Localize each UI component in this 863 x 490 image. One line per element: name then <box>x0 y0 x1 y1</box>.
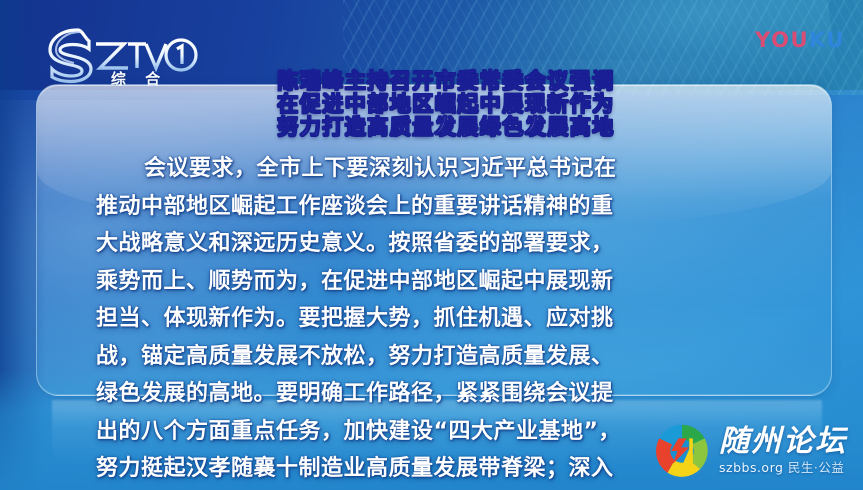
news-body-line: 会议要求，全市上下要深刻认识习近平总书记在 <box>96 150 782 188</box>
forum-name: 随州论坛 <box>719 427 847 457</box>
news-body-line: 战，锚定高质量发展不放松，努力打造高质量发展、 <box>96 338 782 376</box>
headline-line-2: 在促进中部地区崛起中展现新作为 <box>176 93 716 116</box>
forum-url: szbbs.org <box>719 460 783 475</box>
news-headline: 陈瑞峰主持召开市委常委会议强调 在促进中部地区崛起中展现新作为 努力打造高质量发… <box>176 70 716 139</box>
news-body-line: 推动中部地区崛起工作座谈会上的重要讲话精神的重 <box>96 188 782 226</box>
channel-logo: 综 合 <box>38 24 198 86</box>
youku-watermark: YOUKU <box>755 28 845 52</box>
forum-tagline: 民生·公益 <box>788 460 844 475</box>
forum-watermark-text: 随州论坛 szbbs.org 民生·公益 <box>719 427 847 475</box>
youku-watermark-part1: YOU <box>755 28 809 52</box>
forum-watermark: 随州论坛 szbbs.org 民生·公益 <box>653 422 847 480</box>
news-body-line: 大战略意义和深远历史意义。按照省委的部署要求， <box>96 225 782 263</box>
news-body-line: 绿色发展的高地。要明确工作路径，紧紧围绕会议提 <box>96 375 782 413</box>
news-body-line: 乘势而上、顺势而为，在促进中部地区崛起中展现新 <box>96 263 782 301</box>
broadcast-screen: 综 合 YOUKU 陈瑞峰主持召开市委常委会议强调 在促进中部地区崛起中展现新作… <box>0 0 863 490</box>
headline-line-3: 努力打造高质量发展绿色发展高地 <box>176 116 716 139</box>
headline-line-1: 陈瑞峰主持召开市委常委会议强调 <box>176 70 716 93</box>
youku-watermark-part2: KU <box>809 28 845 52</box>
suizhou-forum-logo-icon <box>653 422 711 480</box>
news-body-line: 担当、体现新作为。要把握大势，抓住机遇、应对挑 <box>96 300 782 338</box>
forum-subline: szbbs.org 民生·公益 <box>719 462 847 475</box>
